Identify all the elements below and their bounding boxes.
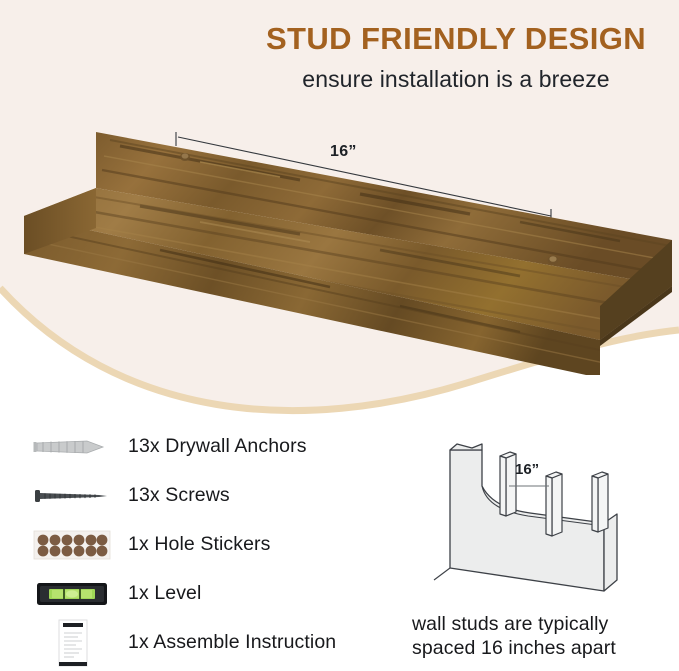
list-item-label: 1x Level — [120, 582, 201, 605]
page-subtitle: ensure installation is a breeze — [240, 66, 672, 94]
stud-caption-line-1: wall studs are typically — [412, 612, 674, 636]
drywall-anchor-icon — [24, 424, 120, 470]
stud — [500, 452, 516, 516]
shelf-dimension-label: 16” — [330, 143, 357, 161]
list-item-label: 13x Screws — [120, 484, 230, 507]
screw-icon — [24, 473, 120, 519]
list-item: 1x Hole Stickers — [24, 520, 394, 569]
instruction-booklet-icon — [24, 620, 120, 666]
stud-caption-line-2: spaced 16 inches apart — [412, 636, 674, 660]
list-item: 1x Level — [24, 569, 394, 618]
infographic-page: STUD FRIENDLY DESIGN ensure installation… — [0, 0, 679, 671]
mounting-hole — [548, 256, 559, 264]
list-item-label: 1x Hole Stickers — [120, 533, 270, 556]
page-title: STUD FRIENDLY DESIGN — [240, 22, 672, 57]
hole-stickers-icon — [24, 522, 120, 568]
level-icon — [24, 571, 120, 617]
list-item-label: 1x Assemble Instruction — [120, 631, 336, 654]
stud-dimension-label: 16” — [515, 461, 539, 478]
list-item-label: 13x Drywall Anchors — [120, 435, 307, 458]
headline-block: STUD FRIENDLY DESIGN ensure installation… — [240, 22, 672, 93]
mounting-hole — [180, 153, 190, 161]
stud — [592, 472, 608, 532]
parts-list: 13x Drywall Anchors 13x Screw — [24, 422, 394, 667]
wall-stud-diagram: 16” — [412, 428, 670, 608]
list-item: 13x Drywall Anchors — [24, 422, 394, 471]
stud — [546, 472, 562, 536]
stud-caption: wall studs are typically spaced 16 inche… — [412, 612, 674, 661]
list-item: 1x Assemble Instruction — [24, 618, 394, 667]
list-item: 13x Screws — [24, 471, 394, 520]
